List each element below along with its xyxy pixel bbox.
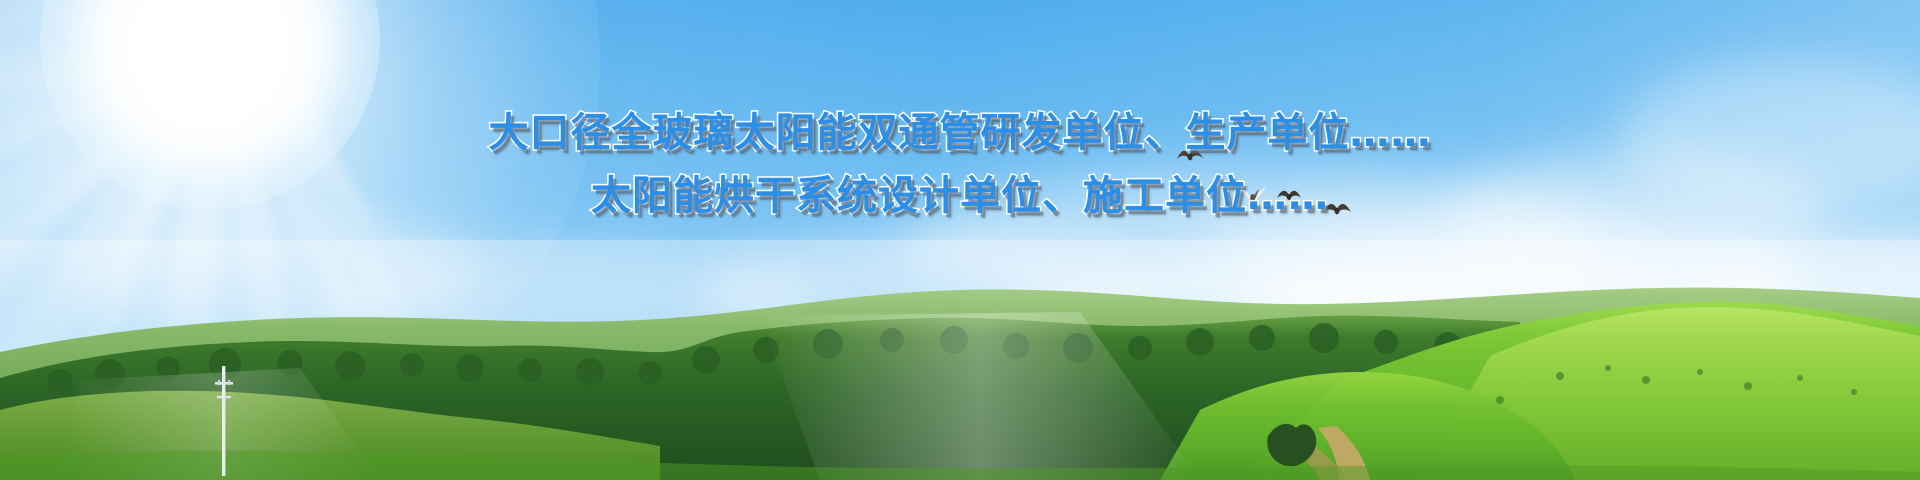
- headline-line-1: 大口径全玻璃太阳能双通管研发单位、生产单位……: [0, 100, 1920, 158]
- utility-pole: [212, 366, 236, 480]
- hero-banner: 大口径全玻璃太阳能双通管研发单位、生产单位…… 太阳能烘干系统设计单位、施工单位…: [0, 0, 1920, 480]
- headline-line-2-text: 太阳能烘干系统设计单位、施工单位……: [591, 173, 1329, 219]
- headline-line-1-text: 大口径全玻璃太阳能双通管研发单位、生产单位……: [489, 110, 1432, 156]
- green-hills: [0, 260, 1920, 480]
- headline-line-2: 太阳能烘干系统设计单位、施工单位……: [0, 163, 1920, 221]
